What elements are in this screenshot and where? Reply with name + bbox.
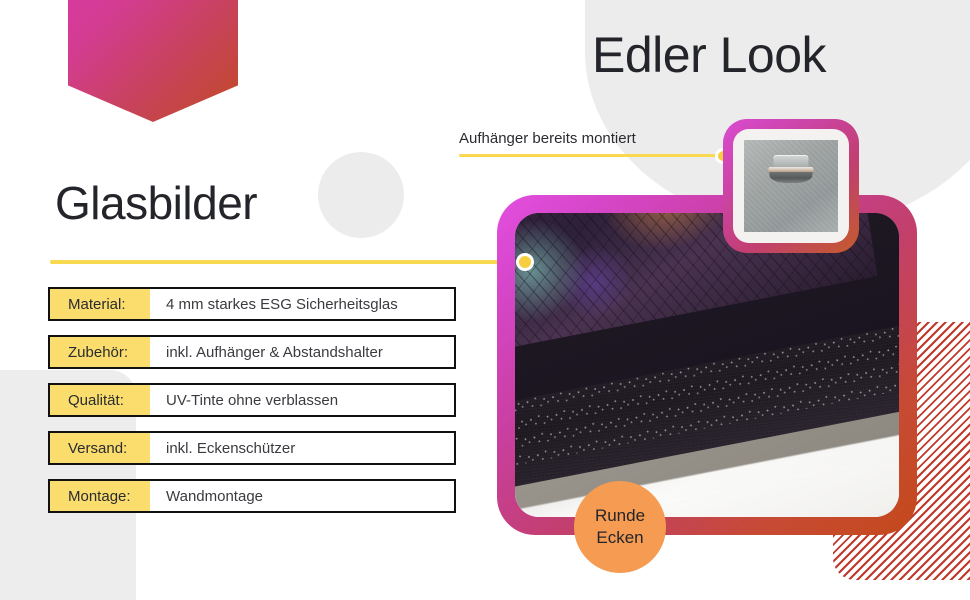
spec-value: inkl. Aufhänger & Abstandshalter bbox=[150, 337, 454, 367]
table-row: Versand: inkl. Eckenschützer bbox=[48, 431, 456, 465]
hanger-bracket-icon bbox=[768, 155, 813, 183]
product-photo bbox=[515, 213, 899, 517]
table-row: Qualität: UV-Tinte ohne verblassen bbox=[48, 383, 456, 417]
spec-label: Versand: bbox=[50, 433, 150, 463]
specification-table: Material: 4 mm starkes ESG Sicherheitsgl… bbox=[48, 287, 456, 527]
spec-label: Zubehör: bbox=[50, 337, 150, 367]
leader-dot-left bbox=[516, 253, 534, 271]
spec-label: Montage: bbox=[50, 481, 150, 511]
leader-line-left bbox=[50, 260, 522, 264]
table-row: Material: 4 mm starkes ESG Sicherheitsgl… bbox=[48, 287, 456, 321]
table-row: Montage: Wandmontage bbox=[48, 479, 456, 513]
spec-value: inkl. Eckenschützer bbox=[150, 433, 454, 463]
hanger-photo bbox=[744, 140, 838, 232]
hanger-inset-inner-border bbox=[733, 129, 849, 243]
spec-value: UV-Tinte ohne verblassen bbox=[150, 385, 454, 415]
bracket-base bbox=[769, 172, 812, 183]
hanger-detail-inset bbox=[723, 119, 859, 253]
glasbilder-infographic: Glasbilder Edler Look Aufhänger bereits … bbox=[0, 0, 970, 600]
leader-line-top bbox=[459, 154, 727, 157]
badge-line-1: Runde bbox=[595, 505, 645, 527]
brand-shield-logo bbox=[68, 0, 238, 122]
spec-label: Qualität: bbox=[50, 385, 150, 415]
spec-value: 4 mm starkes ESG Sicherheitsglas bbox=[150, 289, 454, 319]
table-row: Zubehör: inkl. Aufhänger & Abstandshalte… bbox=[48, 335, 456, 369]
product-image-frame bbox=[497, 195, 917, 535]
section-title-edler-look: Edler Look bbox=[592, 26, 826, 84]
badge-line-2: Ecken bbox=[596, 527, 643, 549]
spec-value: Wandmontage bbox=[150, 481, 454, 511]
page-title: Glasbilder bbox=[55, 176, 257, 230]
spec-label: Material: bbox=[50, 289, 150, 319]
callout-hanger-label: Aufhänger bereits montiert bbox=[459, 130, 636, 147]
status-badge-runde-ecken: Runde Ecken bbox=[574, 481, 666, 573]
background-blob-circle bbox=[318, 152, 404, 238]
